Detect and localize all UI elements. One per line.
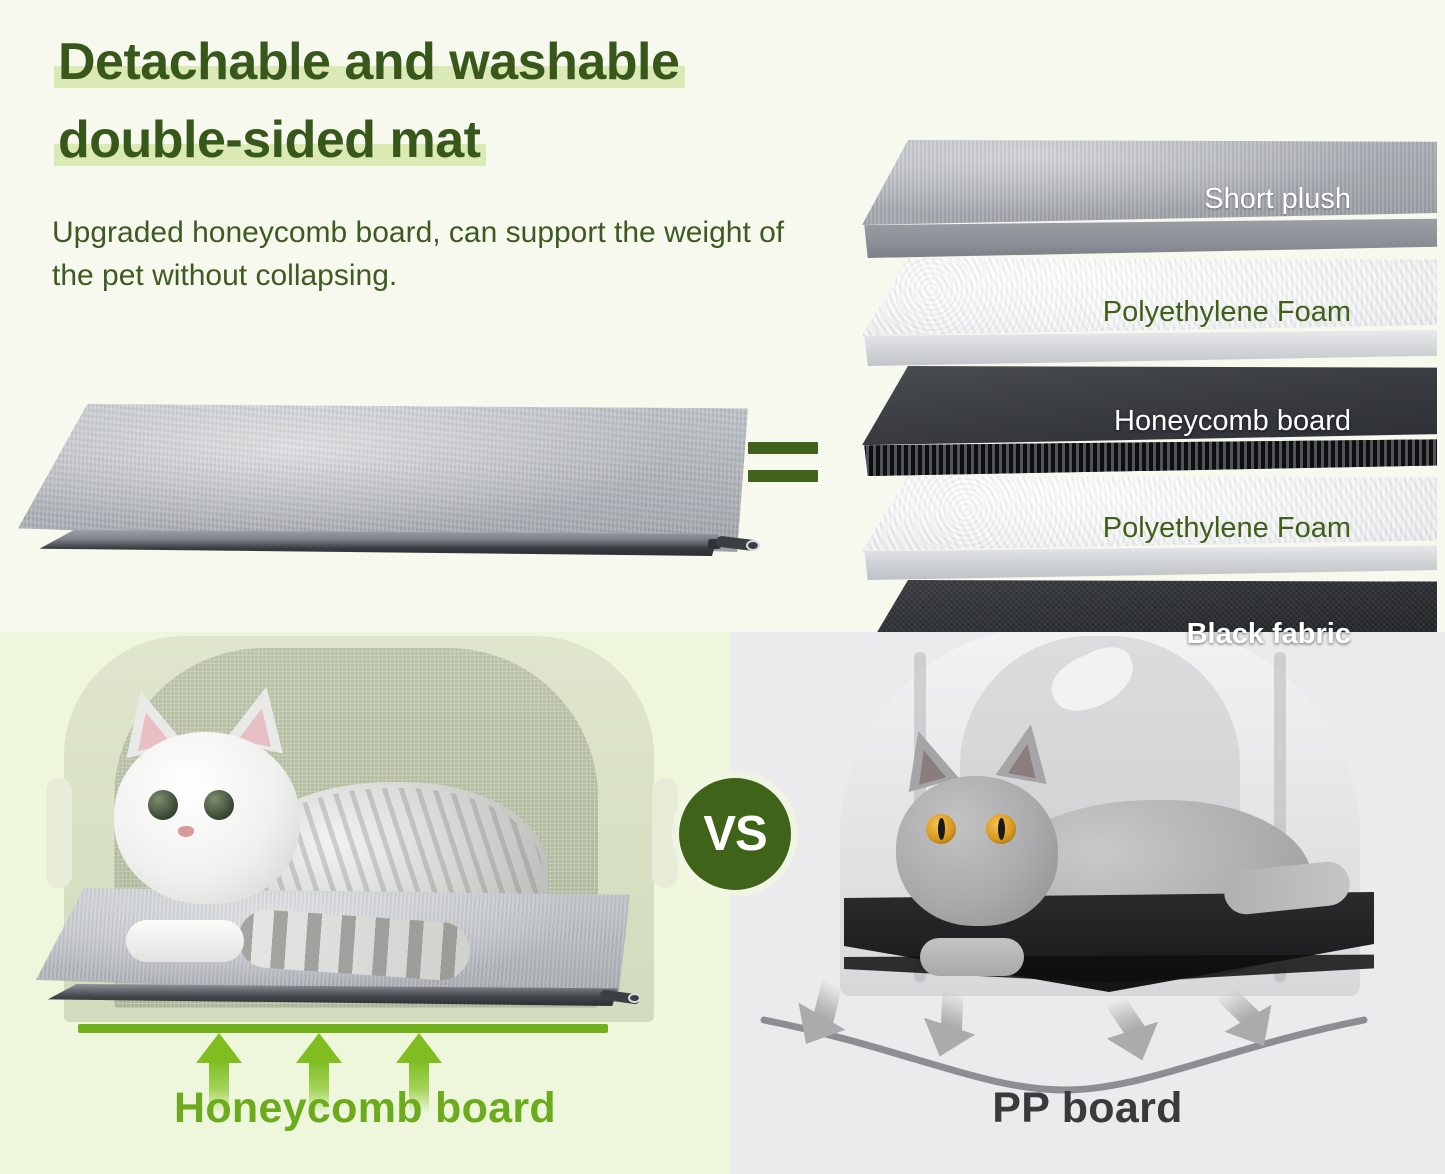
layer-label: Black fabric — [1187, 620, 1437, 649]
product-infographic: Detachable and washable double-sided mat… — [0, 0, 1445, 1174]
cat-paw — [920, 938, 1024, 976]
cat-eye-right — [986, 814, 1016, 844]
layer-short-plush: Short plush — [862, 140, 1437, 258]
layer-label: Polyethylene Foam — [1103, 298, 1437, 327]
zipper-pull-icon — [594, 988, 642, 1008]
subtitle-text: Upgraded honeycomb board, can support th… — [52, 212, 812, 297]
caption-pp-board: PP board — [730, 1084, 1445, 1133]
cat-paw — [126, 920, 244, 962]
comparison-panel-pp-board: PP board — [730, 632, 1445, 1174]
layer-polyethylene-foam-top: Polyethylene Foam — [862, 258, 1437, 366]
layer-label: Polyethylene Foam — [1103, 514, 1437, 543]
carrier-strap-left — [46, 778, 72, 888]
page-title: Detachable and washable double-sided mat — [58, 34, 848, 174]
title-line-1: Detachable and washable — [58, 34, 848, 96]
cat-head — [896, 776, 1058, 926]
zipper-pull-icon — [708, 534, 760, 556]
layer-stack-diagram: Short plush Polyethylene Foam Honeycomb … — [862, 140, 1437, 590]
cat-nose — [178, 826, 194, 837]
mat-edge-trim — [33, 530, 719, 556]
vs-badge: VS — [679, 778, 791, 890]
mat-product-photo — [18, 404, 748, 584]
title-line-2: double-sided mat — [58, 112, 848, 174]
vs-label: VS — [703, 810, 766, 859]
layer-honeycomb-board: Honeycomb board — [862, 366, 1437, 476]
equals-icon — [748, 436, 818, 496]
comparison-panel-honeycomb: Honeycomb board — [0, 632, 730, 1174]
layer-polyethylene-foam-bottom: Polyethylene Foam — [862, 476, 1437, 580]
cat-eye-right — [204, 790, 234, 820]
cat-head — [114, 732, 300, 904]
mat-plush-surface — [18, 404, 748, 552]
construction-section: Detachable and washable double-sided mat… — [0, 0, 1445, 632]
comparison-section: Honeycomb board — [0, 632, 1445, 1174]
carrier-strap-right — [652, 778, 678, 888]
layer-label: Honeycomb board — [1114, 407, 1437, 436]
caption-honeycomb-board: Honeycomb board — [0, 1084, 730, 1133]
layer-label: Short plush — [1204, 185, 1437, 214]
cat-ear-right — [996, 720, 1057, 784]
cat-eye-left — [926, 814, 956, 844]
cat-eye-left — [148, 790, 178, 820]
